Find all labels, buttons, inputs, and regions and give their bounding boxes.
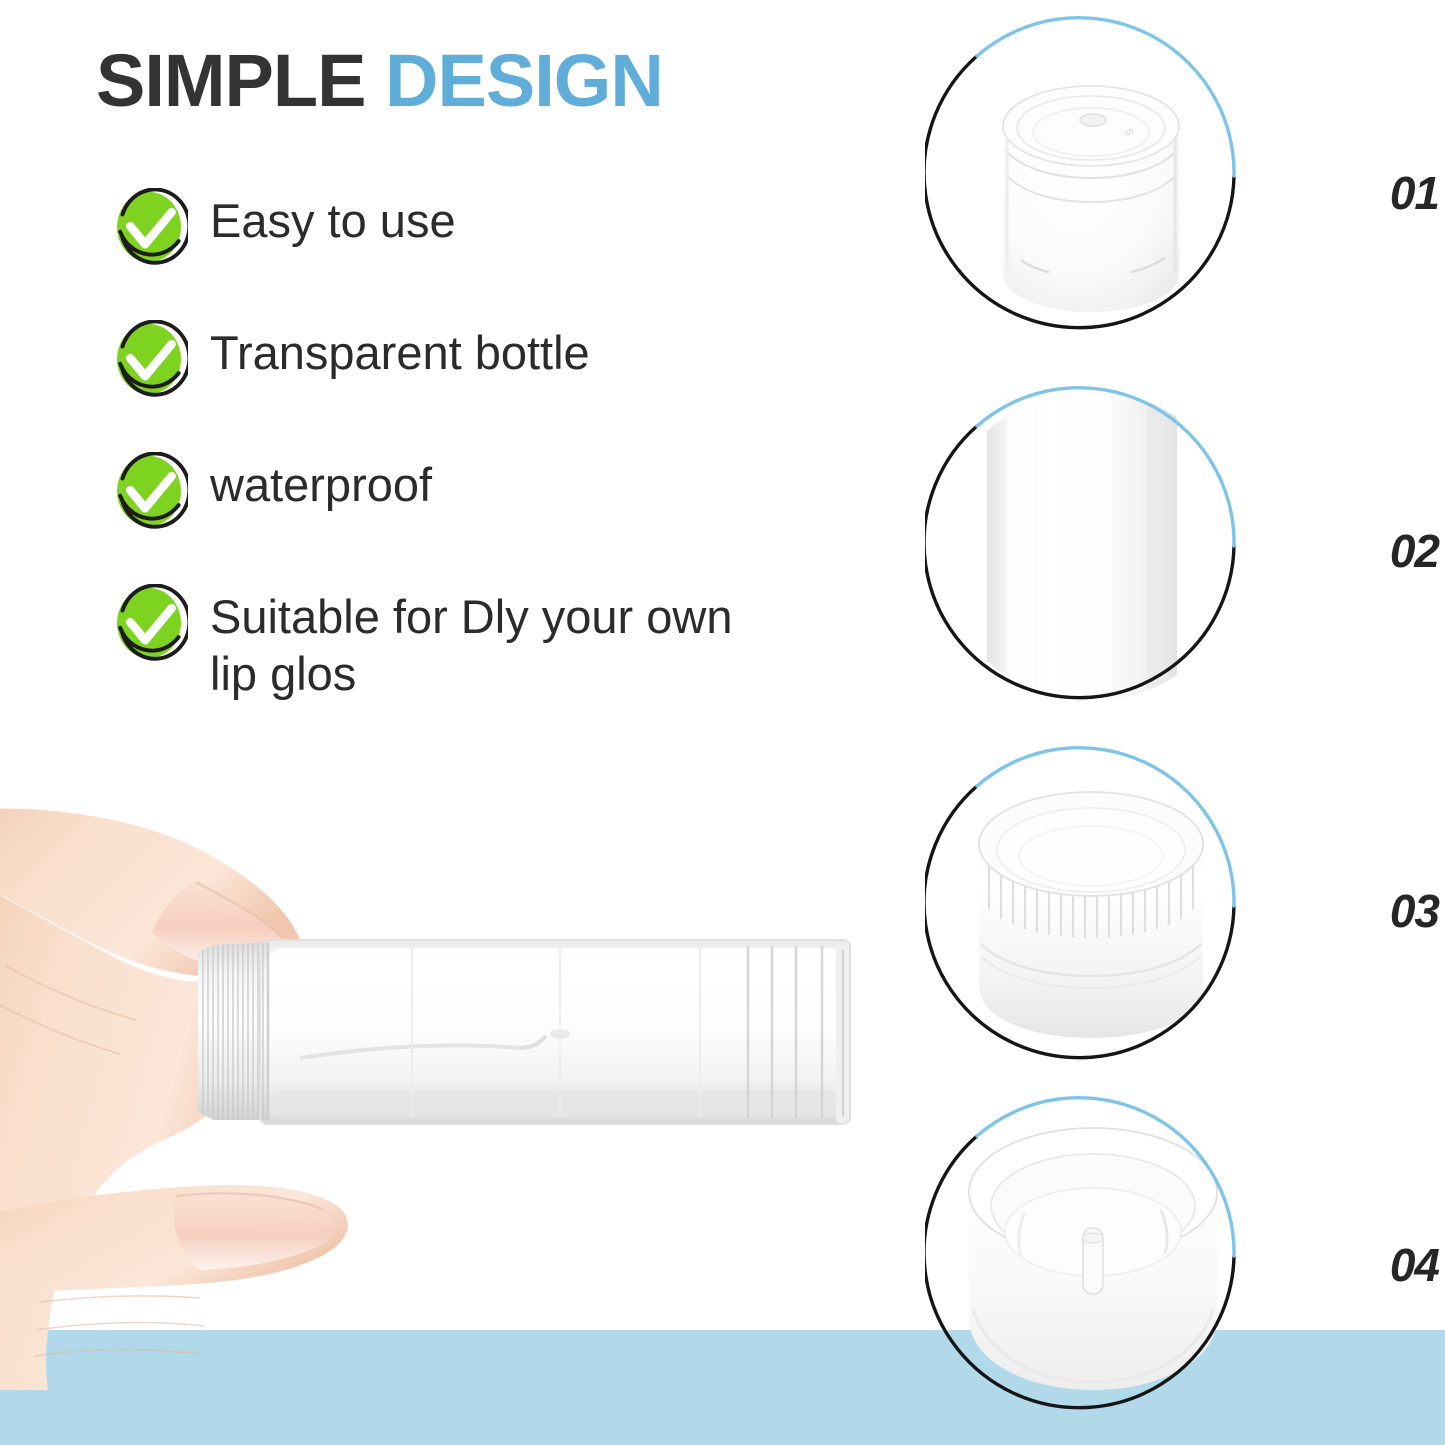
callout-number-label: 03 [1390,885,1439,937]
feature-label: Easy to use [210,186,456,249]
check-circle-icon [110,320,188,398]
feature-label: Transparent bottle [210,318,590,381]
check-circle-icon [110,584,188,662]
callout-04 [925,1088,1305,1445]
page-title: SIMPLE DESIGN [96,44,663,118]
page-title-part-1: SIMPLE [96,39,365,122]
feature-label: waterproof [210,450,432,513]
callout-02 [925,378,1305,738]
check-circle-icon [110,188,188,266]
callout-column: 5 01 [905,0,1445,1445]
callout-01: 5 [925,8,1305,368]
callout-number-label: 04 [1390,1239,1439,1291]
infographic-canvas: SIMPLE DESIGN Easy to use [0,0,1445,1445]
feature-list: Easy to use Transparent bottle [110,186,770,755]
callout-03 [925,738,1305,1098]
callout-number-label: 01 [1390,167,1439,219]
check-circle-icon [110,452,188,530]
product-photo [0,790,900,1390]
feature-item: Suitable for Dly your own lip glos [110,582,770,703]
feature-item: Transparent bottle [110,318,770,398]
feature-item: Easy to use [110,186,770,266]
feature-item: waterproof [110,450,770,530]
callout-number-02: 02 [1390,528,1439,574]
page-title-part-2: DESIGN [385,39,663,122]
callout-number-label: 02 [1390,525,1439,577]
callout-number-04: 04 [1390,1242,1439,1288]
callout-number-01: 01 [1390,170,1439,216]
callout-number-03: 03 [1390,888,1439,934]
feature-label: Suitable for Dly your own lip glos [210,582,770,703]
